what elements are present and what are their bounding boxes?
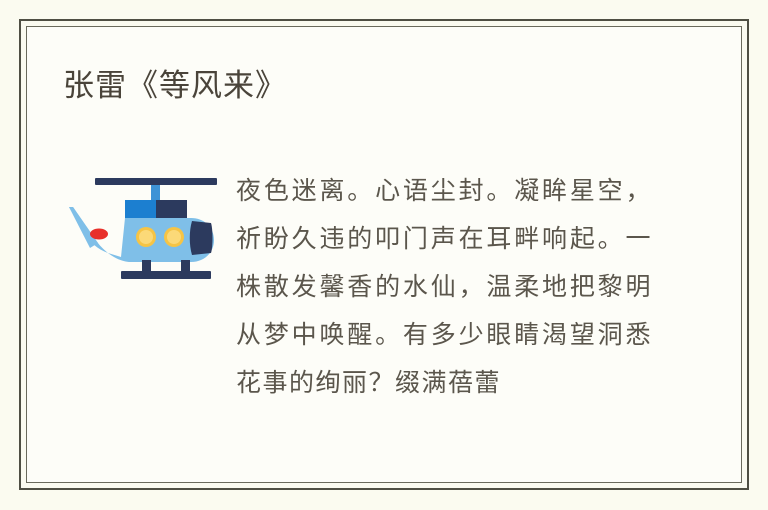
page-title: 张雷《等风来》 — [63, 65, 287, 107]
tail-boom-icon — [69, 207, 98, 248]
window-rear-highlight-icon — [167, 230, 181, 244]
window-front-highlight-icon — [139, 230, 153, 244]
article-body-text: 夜色迷离。心语尘封。凝眸星空，祈盼久违的叩门声在耳畔响起。一株散发馨香的水仙，温… — [236, 167, 652, 407]
engine-housing-shadow-icon — [156, 200, 187, 218]
cockpit-window-icon — [190, 221, 213, 255]
landing-skid-icon — [121, 271, 211, 279]
rotor-blade-icon — [95, 178, 217, 185]
helicopter-illustration — [63, 171, 229, 283]
article-card-frame: 张雷《等风来》 — [19, 19, 749, 490]
rotor-mast-icon — [151, 185, 160, 202]
tail-light-icon — [90, 229, 108, 240]
article-content-row: 夜色迷离。心语尘封。凝眸星空，祈盼久违的叩门声在耳畔响起。一株散发馨香的水仙，温… — [27, 153, 741, 482]
article-card-inner-frame: 张雷《等风来》 — [26, 26, 742, 483]
